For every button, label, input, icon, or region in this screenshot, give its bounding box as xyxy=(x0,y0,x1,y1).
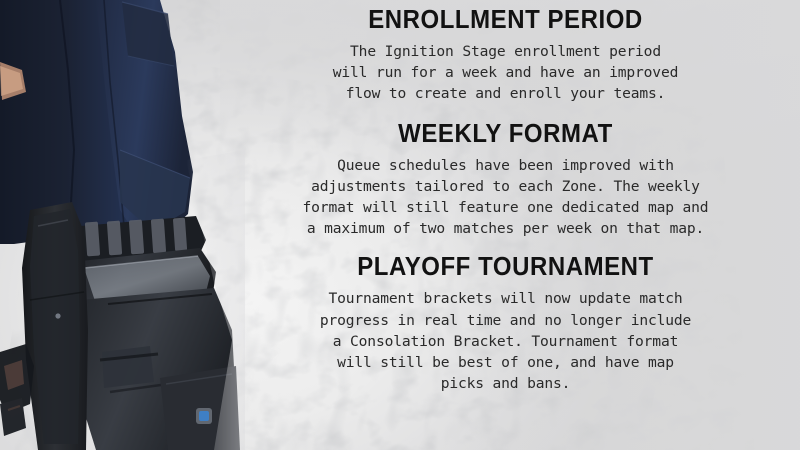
section-title: ENROLLMENT PERIOD xyxy=(263,7,747,34)
section-title: WEEKLY FORMAT xyxy=(263,121,747,148)
section-playoff-tournament: PLAYOFF TOURNAMENT Tournament brackets w… xyxy=(248,254,763,394)
section-enrollment-period: ENROLLMENT PERIOD The Ignition Stage enr… xyxy=(248,7,763,105)
section-title: PLAYOFF TOURNAMENT xyxy=(263,254,747,281)
patch-notes-poster: ENROLLMENT PERIOD The Ignition Stage enr… xyxy=(0,0,800,450)
section-body: Tournament brackets will now update matc… xyxy=(248,288,763,394)
section-body: Queue schedules have been improved with … xyxy=(248,155,763,240)
patch-notes-content: ENROLLMENT PERIOD The Ignition Stage enr… xyxy=(248,0,763,450)
section-weekly-format: WEEKLY FORMAT Queue schedules have been … xyxy=(248,121,763,240)
section-body: The Ignition Stage enrollment period wil… xyxy=(248,41,763,105)
